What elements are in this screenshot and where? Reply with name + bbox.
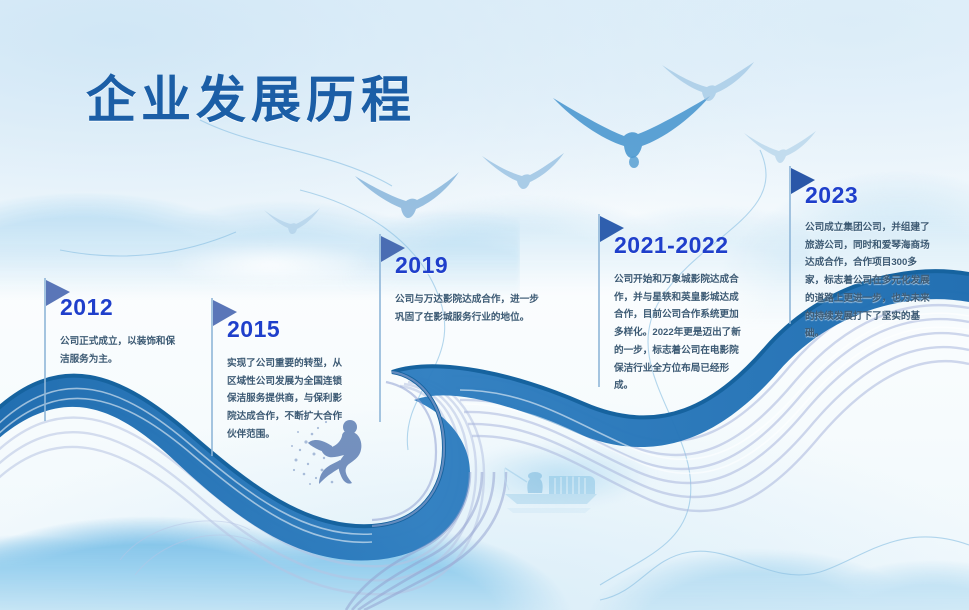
milestone-desc-2015: 实现了公司重要的转型，从区域性公司发展为全国连锁保洁服务提供商，与保利影院达成合… <box>227 355 347 444</box>
milestone-year-2021-2022: 2021-2022 <box>614 234 750 257</box>
bird-icon-upper-right <box>660 58 756 108</box>
flag-icon-2023 <box>783 164 817 324</box>
flag-icon-2015 <box>205 296 239 456</box>
milestone-year-2015: 2015 <box>227 318 355 341</box>
flag-icon-2021-2022 <box>592 212 626 387</box>
fisherman-boat-icon <box>497 462 601 520</box>
milestone-desc-2021-2022: 公司开始和万象城影院达成合作，并与星轶和英皇影城达成合作，目前公司合作系统更加多… <box>614 271 742 395</box>
infographic-canvas: 企业发展历程 2012 公司正式成立，以装饰和保洁服务为主。 2015 实现了公… <box>0 0 969 610</box>
milestone-year-2019: 2019 <box>395 254 547 277</box>
milestone-2021-2022[interactable]: 2021-2022 公司开始和万象城影院达成合作，并与星轶和英皇影城达成合作，目… <box>592 212 750 395</box>
flag-icon-2012 <box>38 276 72 421</box>
milestone-desc-2023: 公司成立集团公司，并组建了旅游公司，同时和爱琴海商场达成合作，合作项目300多家… <box>805 219 933 343</box>
milestone-2023[interactable]: 2023 公司成立集团公司，并组建了旅游公司，同时和爱琴海商场达成合作，合作项目… <box>783 164 941 343</box>
bird-icon-small-center <box>480 150 566 194</box>
milestone-year-2023: 2023 <box>805 184 941 207</box>
milestone-2019[interactable]: 2019 公司与万达影院达成合作，进一步巩固了在影城服务行业的地位。 <box>373 232 547 326</box>
milestone-2015[interactable]: 2015 实现了公司重要的转型，从区域性公司发展为全国连锁保洁服务提供商，与保利… <box>205 296 355 444</box>
page-title: 企业发展历程 <box>86 60 416 132</box>
milestone-year-2012: 2012 <box>60 296 184 319</box>
flag-icon-2019 <box>373 232 407 422</box>
bird-icon-far-right <box>742 128 818 168</box>
milestone-2012[interactable]: 2012 公司正式成立，以装饰和保洁服务为主。 <box>38 276 184 368</box>
milestone-desc-2012: 公司正式成立，以装饰和保洁服务为主。 <box>60 333 178 368</box>
milestone-desc-2019: 公司与万达影院达成合作，进一步巩固了在影城服务行业的地位。 <box>395 291 543 326</box>
